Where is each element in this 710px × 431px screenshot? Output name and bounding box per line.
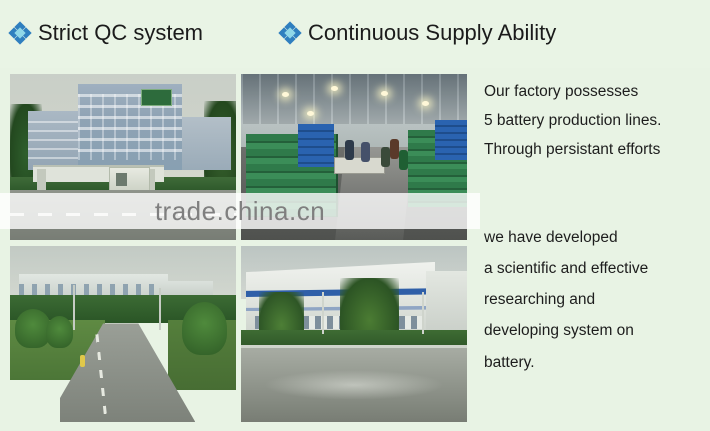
- description-line: Our factory possesses: [484, 82, 706, 102]
- watermark-text: trade.china.cn: [0, 193, 480, 229]
- road-surface: [241, 348, 467, 422]
- description-line: 5 battery production lines.: [484, 111, 706, 131]
- header-item-strict-qc: Strict QC system: [10, 20, 203, 46]
- hall-side-wall: [426, 271, 467, 338]
- photo-factory-hall: [241, 246, 467, 422]
- building-left-wing: [28, 111, 82, 171]
- description-line: battery.: [484, 353, 706, 373]
- ceiling-structure: [241, 74, 467, 130]
- gate-post-left: [37, 169, 46, 192]
- worker-figure: [361, 142, 370, 162]
- header-label-supply-ability: Continuous Supply Ability: [308, 20, 556, 46]
- description-line: Through persistant efforts: [484, 140, 706, 160]
- description-line: a scientific and effective: [484, 259, 706, 279]
- page-root: Strict QC system Continuous Supply Abili…: [0, 0, 710, 431]
- person-figure: [80, 355, 85, 367]
- guard-house: [109, 167, 149, 192]
- light-pole: [73, 285, 75, 331]
- worker-figure: [345, 140, 354, 160]
- description-line: researching and: [484, 290, 706, 310]
- blue-crate-stack-left: [298, 124, 334, 167]
- shrub: [46, 316, 73, 348]
- ceiling-lamp: [307, 111, 314, 116]
- light-pole: [322, 292, 324, 334]
- diamond-bullet-icon: [10, 23, 30, 43]
- shrub: [182, 302, 227, 355]
- description-line: we have developed: [484, 228, 706, 248]
- building-right-wing: [182, 117, 232, 170]
- ceiling-lamp: [422, 101, 429, 106]
- description-block-bottom: we have developed a scientific and effec…: [484, 228, 706, 384]
- worker-figure: [390, 139, 399, 159]
- header-item-supply-ability: Continuous Supply Ability: [280, 20, 556, 46]
- worker-figure: [381, 147, 390, 167]
- work-table: [334, 157, 386, 174]
- diamond-bullet-icon: [280, 23, 300, 43]
- header-label-strict-qc: Strict QC system: [38, 20, 203, 46]
- light-pole: [159, 288, 161, 330]
- ceiling-lamp: [381, 91, 388, 96]
- ceiling-lamp: [331, 86, 338, 91]
- blue-crate-stack-right: [435, 120, 467, 160]
- worker-figure: [399, 150, 408, 170]
- light-pole: [422, 292, 424, 334]
- photo-factory-frontage: [10, 246, 236, 422]
- description-block-top: Our factory possesses 5 battery producti…: [484, 82, 706, 169]
- header-bar: Strict QC system Continuous Supply Abili…: [0, 0, 710, 68]
- rooftop-sign: [141, 89, 172, 106]
- description-line: developing system on: [484, 321, 706, 341]
